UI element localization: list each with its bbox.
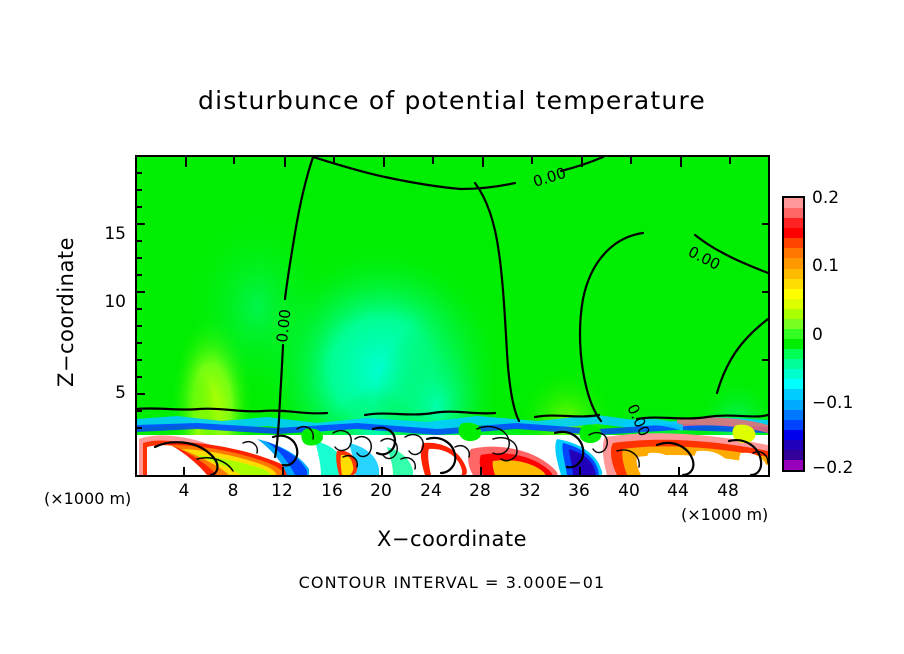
- colorbar-band-4: [784, 238, 803, 248]
- colorbar-band-6: [784, 258, 803, 268]
- colorbar-tick-label: 0.2: [812, 188, 839, 208]
- contour-interval-caption: CONTOUR INTERVAL = 3.000E−01: [0, 573, 904, 592]
- colorbar-band-16: [784, 359, 803, 369]
- x-tick: [233, 157, 235, 164]
- x-tick: [383, 157, 385, 167]
- x-tick-bottom: [579, 467, 581, 477]
- x-tick-label: 28: [460, 481, 500, 501]
- x-tick-label: 16: [312, 481, 352, 501]
- colorbar-band-13: [784, 329, 803, 339]
- x-tick-label: 48: [708, 481, 748, 501]
- x-tick-label: 8: [213, 481, 253, 501]
- colorbar-band-11: [784, 309, 803, 319]
- colorbar-band-8: [784, 279, 803, 289]
- y-tick: [135, 291, 145, 293]
- y-tick-right: [762, 291, 770, 293]
- x-tick-label: 36: [559, 481, 599, 501]
- y-tick: [135, 342, 142, 344]
- y-tick: [135, 223, 145, 225]
- x-axis-title: X−coordinate: [0, 527, 904, 551]
- y-tick: [135, 172, 142, 174]
- colorbar-band-9: [784, 289, 803, 299]
- x-tick-label: 20: [361, 481, 401, 501]
- colorbar-band-3: [784, 228, 803, 238]
- colorbar-band-22: [784, 420, 803, 430]
- contour-label-3: 0.00: [273, 308, 294, 343]
- colorbar-band-10: [784, 299, 803, 309]
- y-tick: [135, 274, 142, 276]
- x-tick: [482, 157, 484, 167]
- colorbar-band-24: [784, 440, 803, 450]
- y-tick-label: 5: [96, 383, 126, 403]
- x-tick-label: 4: [164, 481, 204, 501]
- page-title: disturbunce of potential temperature: [0, 86, 904, 115]
- y-tick-label: 10: [96, 292, 126, 312]
- x-tick-bottom: [480, 467, 482, 477]
- x-tick: [284, 157, 286, 167]
- colorbar-band-5: [784, 248, 803, 258]
- colorbar-band-12: [784, 319, 803, 329]
- colorbar-band-15: [784, 349, 803, 359]
- y-tick: [135, 240, 142, 242]
- colorbar-tick-label: −0.1: [812, 393, 853, 413]
- x-tick: [531, 157, 533, 164]
- colorbar-band-26: [784, 460, 803, 470]
- colorbar-band-23: [784, 430, 803, 440]
- y-tick: [135, 427, 142, 429]
- contour-plot-canvas: 0.00 0.00 0.00 0.00: [137, 157, 768, 475]
- x-tick: [630, 157, 632, 164]
- x-tick-label: 24: [411, 481, 451, 501]
- x-tick-label: 40: [609, 481, 649, 501]
- y-tick-right: [762, 223, 770, 225]
- colorbar-band-25: [784, 450, 803, 460]
- plot-area: 0.00 0.00 0.00 0.00: [135, 155, 770, 477]
- colorbar-band-17: [784, 369, 803, 379]
- x-axis-unit-left: (×1000 m): [44, 489, 131, 508]
- x-tick: [680, 157, 682, 167]
- y-tick: [135, 189, 142, 191]
- x-axis-unit-right: (×1000 m): [681, 505, 768, 524]
- x-tick-bottom: [282, 467, 284, 477]
- colorbar-band-18: [784, 379, 803, 389]
- colorbar-band-21: [784, 410, 803, 420]
- y-tick-label: 15: [96, 224, 126, 244]
- x-tick-bottom: [381, 467, 383, 477]
- colorbar-band-2: [784, 218, 803, 228]
- y-tick: [135, 325, 142, 327]
- x-tick-label: 44: [658, 481, 698, 501]
- y-axis-title: Z−coordinate: [54, 202, 78, 422]
- colorbar-tick-label: −0.2: [812, 458, 853, 478]
- y-tick: [135, 257, 142, 259]
- x-tick-bottom: [183, 467, 185, 477]
- y-tick: [135, 393, 145, 395]
- y-tick: [135, 308, 142, 310]
- y-tick: [135, 359, 142, 361]
- x-tick: [185, 157, 187, 167]
- colorbar-band-7: [784, 269, 803, 279]
- colorbar-tick-label: 0.1: [812, 256, 839, 276]
- colorbar-band-20: [784, 400, 803, 410]
- x-tick: [581, 157, 583, 167]
- colorbar-band-14: [784, 339, 803, 349]
- x-tick: [432, 157, 434, 164]
- colorbar-band-0: [784, 198, 803, 208]
- y-tick: [135, 206, 142, 208]
- colorbar-tick-label: 0: [812, 325, 823, 345]
- colorbar-band-1: [784, 208, 803, 218]
- x-tick: [333, 157, 335, 164]
- x-tick-bottom: [678, 467, 680, 477]
- colorbar: [782, 196, 805, 472]
- colorbar-band-19: [784, 389, 803, 399]
- y-tick: [135, 410, 142, 412]
- x-tick-label: 32: [510, 481, 550, 501]
- x-tick-label: 12: [262, 481, 302, 501]
- y-tick-right: [762, 359, 770, 361]
- y-tick: [135, 376, 142, 378]
- x-tick: [729, 157, 731, 164]
